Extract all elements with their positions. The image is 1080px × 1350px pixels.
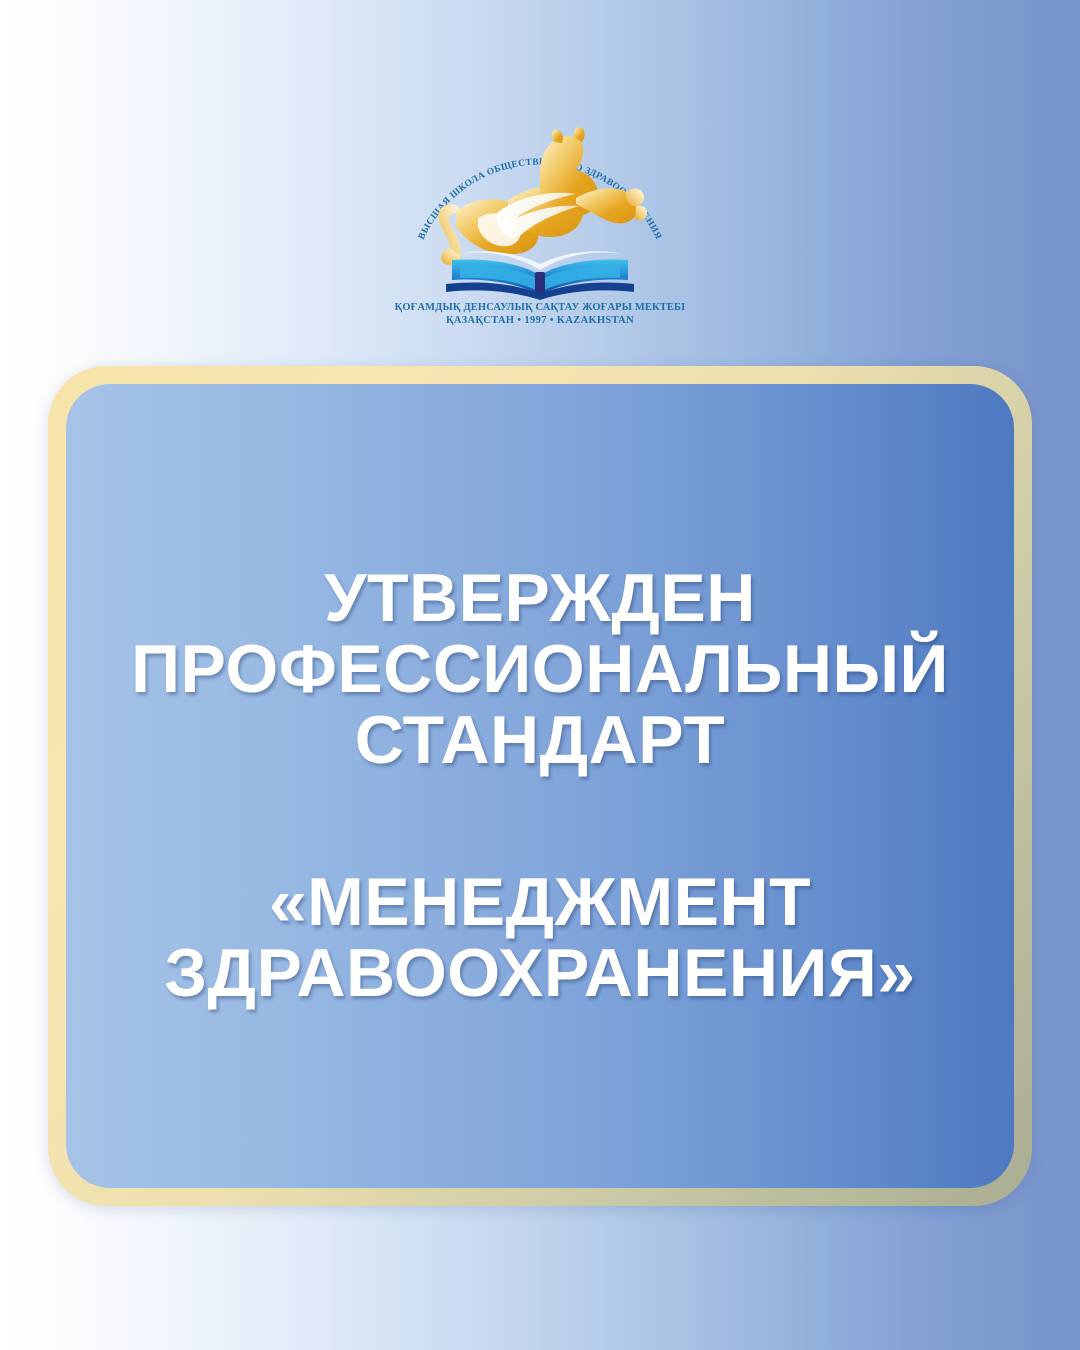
institution-logo: ВЫСШАЯ ШКОЛА ОБЩЕСТВЕННОГО ЗДРАВООХРАНЕН… [390,88,690,328]
winged-leopard-emblem [439,127,648,265]
headline-primary: УТВЕРЖДЕН ПРОФЕССИОНАЛЬНЫЙ СТАНДАРТ [131,563,949,775]
logo-footer-text: ҚАЗАҚСТАН • 1997 • KAZAKHSTAN [446,315,634,326]
headline-secondary: «МЕНЕДЖМЕНТ ЗДРАВООХРАНЕНИЯ» [131,867,949,1008]
headline-block: УТВЕРЖДЕН ПРОФЕССИОНАЛЬНЫЙ СТАНДАРТ «МЕН… [95,563,985,1009]
announcement-card: УТВЕРЖДЕН ПРОФЕССИОНАЛЬНЫЙ СТАНДАРТ «МЕН… [66,384,1014,1188]
logo-container: ВЫСШАЯ ШКОЛА ОБЩЕСТВЕННОГО ЗДРАВООХРАНЕН… [0,88,1080,328]
open-book-icon [446,251,634,300]
logo-bottom-text-kk: ҚОҒАМДЫҚ ДЕНСАУЛЫҚ САҚТАУ ЖОҒАРЫ МЕКТЕБІ [395,302,686,313]
announcement-card-border: УТВЕРЖДЕН ПРОФЕССИОНАЛЬНЫЙ СТАНДАРТ «МЕН… [48,366,1032,1206]
poster-canvas: ВЫСШАЯ ШКОЛА ОБЩЕСТВЕННОГО ЗДРАВООХРАНЕН… [0,0,1080,1350]
